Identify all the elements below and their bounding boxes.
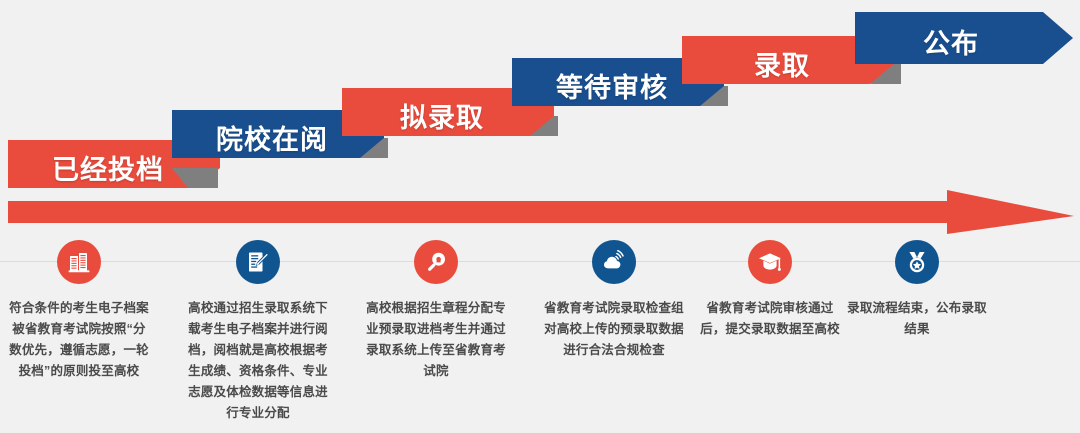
step-banner-6[interactable]: 公布: [855, 12, 1073, 64]
step-caption-5: 省教育考试院审核通过后，提交录取数据至高校: [698, 298, 842, 340]
step-shadow-1: [172, 168, 218, 188]
step-caption-1: 符合条件的考生电子档案被省教育考试院按照“分数优先，遵循志愿，一轮投档”的原则投…: [7, 298, 151, 382]
step-icon-2[interactable]: [236, 240, 280, 284]
magnifier-icon: [424, 250, 448, 274]
caption-row: 符合条件的考生电子档案被省教育考试院按照“分数优先，遵循志愿，一轮投档”的原则投…: [0, 298, 1080, 433]
step-caption-3: 高校根据招生章程分配专业预录取进档考生并通过录取系统上传至省教育考试院: [364, 298, 508, 382]
infographic-root: 已经投档 院校在阅 拟录取: [0, 0, 1080, 433]
medal-icon: [905, 250, 929, 274]
step-icon-4[interactable]: [592, 240, 636, 284]
graduation-cap-icon: [758, 250, 782, 274]
icon-row: [0, 240, 1080, 286]
timeline-arrow: [0, 186, 1080, 238]
cloud-upload-icon: [602, 250, 626, 274]
document-edit-icon: [246, 250, 270, 274]
step-caption-4: 省教育考试院录取检查组对高校上传的预录取数据进行合法合规检查: [542, 298, 686, 361]
step-icon-5[interactable]: [748, 240, 792, 284]
step-caption-6: 录取流程结束，公布录取结果: [845, 298, 989, 340]
building-icon: [67, 250, 91, 274]
step-icon-6[interactable]: [895, 240, 939, 284]
step-icon-1[interactable]: [57, 240, 101, 284]
step-caption-2: 高校通过招生录取系统下载考生电子档案并进行阅档，阅档就是高校根据考生成绩、资格条…: [186, 298, 330, 424]
step-icon-3[interactable]: [414, 240, 458, 284]
